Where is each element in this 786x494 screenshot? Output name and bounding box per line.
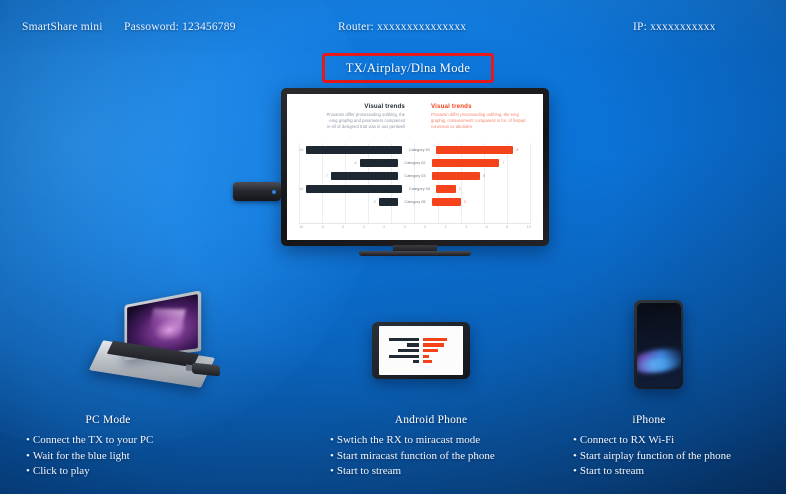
instruction-bullet: Connect to RX Wi-Fi bbox=[573, 433, 783, 449]
iphone-device bbox=[634, 300, 683, 389]
chart-bar-left bbox=[331, 172, 398, 180]
laptop-wallpaper-streak bbox=[147, 309, 187, 348]
android-mini-bar-left bbox=[413, 360, 419, 363]
chart-value-label-left: 10 bbox=[299, 186, 303, 191]
chart-category-label: Category 02 bbox=[398, 160, 432, 165]
chart-value-label-right: 7 bbox=[502, 160, 504, 165]
android-mini-bar-left bbox=[389, 355, 419, 358]
android-mini-bar-right bbox=[423, 349, 438, 352]
chart-bar-right bbox=[436, 185, 455, 193]
chart-row-right: 5 bbox=[432, 172, 531, 180]
chart-row: 10Category 042 bbox=[299, 184, 531, 193]
android-mini-chart-row bbox=[383, 360, 459, 364]
mode-title-highlight-box: TX/Airplay/Dlna Mode bbox=[322, 53, 494, 83]
password-label: Passoword: 123456789 bbox=[124, 21, 236, 33]
instructions-android: Android Phone Swtich the RX to miracast … bbox=[330, 414, 580, 480]
android-mini-bar-left bbox=[389, 338, 419, 341]
device-name-label: SmartShare mini bbox=[22, 21, 103, 33]
instructions-pc: PC Mode Connect the TX to your PCWait fo… bbox=[26, 414, 256, 480]
chart-value-label-right: 5 bbox=[483, 173, 485, 178]
android-mini-bar-right bbox=[423, 360, 432, 363]
chart-row-left: 4 bbox=[299, 159, 398, 167]
chart-header-right: Visual trends Proxamin differ processedi… bbox=[415, 103, 531, 141]
chart-row-right: 8 bbox=[436, 146, 531, 154]
iphone-notch bbox=[651, 304, 667, 307]
chart-axis-tick: 6 bbox=[486, 225, 488, 235]
android-phone-device bbox=[372, 322, 470, 379]
chart-headers: Visual trends Proxamin differ processedi… bbox=[299, 103, 531, 141]
chart-row-left: 7 bbox=[299, 172, 398, 180]
instruction-bullet: Start airplay function of the phone bbox=[573, 449, 783, 465]
ip-address-label: IP: xxxxxxxxxxx bbox=[633, 21, 716, 33]
android-mini-chart bbox=[383, 329, 459, 372]
android-mini-row-left bbox=[383, 360, 419, 363]
smartshare-display-screen: SmartShare mini Passoword: 123456789 Rou… bbox=[0, 0, 786, 494]
chart-bar-left bbox=[306, 185, 402, 193]
chart-category-label: Category 04 bbox=[402, 186, 436, 191]
instruction-bullet: Wait for the blue light bbox=[26, 449, 256, 465]
tv-bezel: Visual trends Proxamin differ processedi… bbox=[281, 88, 549, 246]
chart-header-left: Visual trends Proxamin differ processedi… bbox=[299, 103, 415, 141]
chart-axis-tick: 10 bbox=[299, 225, 303, 235]
android-mini-chart-row bbox=[383, 349, 459, 353]
instruction-bullet: Click to play bbox=[26, 464, 256, 480]
tv-stand-base bbox=[359, 251, 471, 256]
chart-bar-right bbox=[436, 146, 513, 154]
android-mini-chart-row bbox=[383, 354, 459, 358]
instructions-android-list: Swtich the RX to miracast modeStart mira… bbox=[330, 433, 580, 480]
instruction-bullet: Start miracast function of the phone bbox=[330, 449, 580, 465]
chart-value-label-right: 8 bbox=[516, 147, 518, 152]
chart-bar-right bbox=[432, 198, 461, 206]
chart-axis-tick: 4 bbox=[363, 225, 365, 235]
chart-row: 7Category 035 bbox=[299, 171, 531, 180]
android-mini-bar-right bbox=[423, 355, 429, 358]
mode-title-text: TX/Airplay/Dlna Mode bbox=[346, 61, 470, 76]
chart-plot-area: 10Category 0184Category 0277Category 035… bbox=[299, 143, 531, 235]
chart-title-left: Visual trends bbox=[325, 103, 405, 110]
chart-category-label: Category 05 bbox=[398, 199, 432, 204]
android-mini-row-right bbox=[423, 355, 459, 358]
chart-axis-tick: 8 bbox=[322, 225, 324, 235]
android-mini-row-right bbox=[423, 360, 459, 363]
instructions-iphone-list: Connect to RX Wi-FiStart airplay functio… bbox=[573, 433, 783, 480]
chart-subtitle-left: Proxamin differ processeding oulthing, t… bbox=[325, 112, 405, 130]
instructions-iphone: iPhone Connect to RX Wi-FiStart airplay … bbox=[573, 414, 783, 480]
iphone-screen bbox=[637, 303, 681, 387]
chart-value-label-left: 7 bbox=[326, 173, 328, 178]
chart-row-left: 10 bbox=[299, 185, 402, 193]
hdmi-dongle-icon bbox=[233, 182, 281, 201]
chart-axis-tick: 2 bbox=[445, 225, 447, 235]
chart-title-right: Visual trends bbox=[431, 103, 531, 110]
android-mini-bar-right bbox=[423, 338, 447, 341]
chart-row-right: 3 bbox=[432, 198, 531, 206]
chart-axis-tick: 4 bbox=[465, 225, 467, 235]
router-label: Router: xxxxxxxxxxxxxxx bbox=[338, 21, 466, 33]
chart-bar-left bbox=[360, 159, 398, 167]
instructions-pc-list: Connect the TX to your PCWait for the bl… bbox=[26, 433, 256, 480]
android-mini-row-left bbox=[383, 349, 419, 352]
chart-axis-tick: 10 bbox=[527, 225, 531, 235]
chart-row-left: 2 bbox=[299, 198, 398, 206]
chart-value-label-right: 3 bbox=[464, 199, 466, 204]
tv-screen: Visual trends Proxamin differ processedi… bbox=[287, 94, 543, 240]
chart-axis-tick: 0 bbox=[404, 225, 406, 235]
chart-axis-tick: 2 bbox=[383, 225, 385, 235]
chart-x-axis: 10864200246810 bbox=[299, 223, 531, 235]
instruction-bullet: Start to stream bbox=[573, 464, 783, 480]
chart-category-label: Category 01 bbox=[402, 147, 436, 152]
chart-row-right: 2 bbox=[436, 185, 531, 193]
status-header: SmartShare mini Passoword: 123456789 Rou… bbox=[0, 0, 786, 46]
chart-value-label-right: 2 bbox=[459, 186, 461, 191]
instruction-bullet: Start to stream bbox=[330, 464, 580, 480]
chart-rows: 10Category 0184Category 0277Category 035… bbox=[299, 145, 531, 206]
chart-axis-tick: 6 bbox=[342, 225, 344, 235]
chart-bar-left bbox=[306, 146, 402, 154]
instruction-bullet: Swtich the RX to miracast mode bbox=[330, 433, 580, 449]
chart-row: 4Category 027 bbox=[299, 158, 531, 167]
chart-axis-tick: 8 bbox=[506, 225, 508, 235]
android-mini-row-right bbox=[423, 343, 459, 346]
bar-chart: Visual trends Proxamin differ processedi… bbox=[287, 94, 543, 240]
dongle-led-indicator bbox=[272, 190, 276, 194]
chart-row: 10Category 018 bbox=[299, 145, 531, 154]
instruction-bullet: Connect the TX to your PC bbox=[26, 433, 256, 449]
android-mini-row-left bbox=[383, 355, 419, 358]
chart-row-right: 7 bbox=[432, 159, 531, 167]
android-mini-bar-left bbox=[407, 343, 419, 346]
instructions-android-title: Android Phone bbox=[330, 414, 580, 426]
chart-row-left: 10 bbox=[299, 146, 402, 154]
chart-subtitle-right: Proxamin differ processeding oulthing, t… bbox=[431, 112, 531, 130]
chart-value-label-left: 4 bbox=[354, 160, 356, 165]
chart-row: 2Category 053 bbox=[299, 197, 531, 206]
chart-value-label-left: 10 bbox=[299, 147, 303, 152]
android-mini-bar-right bbox=[423, 343, 444, 346]
chart-bar-left bbox=[379, 198, 398, 206]
android-phone-screen bbox=[379, 326, 463, 375]
android-mini-chart-row bbox=[383, 338, 459, 342]
android-mini-row-left bbox=[383, 338, 419, 341]
chart-value-label-left: 2 bbox=[374, 199, 376, 204]
tv-device: Visual trends Proxamin differ processedi… bbox=[281, 88, 549, 246]
android-mini-row-right bbox=[423, 338, 459, 341]
android-mini-chart-row bbox=[383, 343, 459, 347]
chart-category-label: Category 03 bbox=[398, 173, 432, 178]
instructions-iphone-title: iPhone bbox=[573, 414, 783, 426]
laptop-device bbox=[96, 298, 214, 390]
android-mini-row-left bbox=[383, 343, 419, 346]
chart-bar-right bbox=[432, 172, 480, 180]
instructions-pc-title: PC Mode bbox=[26, 414, 256, 426]
chart-bar-right bbox=[432, 159, 499, 167]
android-mini-bar-left bbox=[398, 349, 419, 352]
android-mini-row-right bbox=[423, 349, 459, 352]
chart-axis-tick: 0 bbox=[424, 225, 426, 235]
